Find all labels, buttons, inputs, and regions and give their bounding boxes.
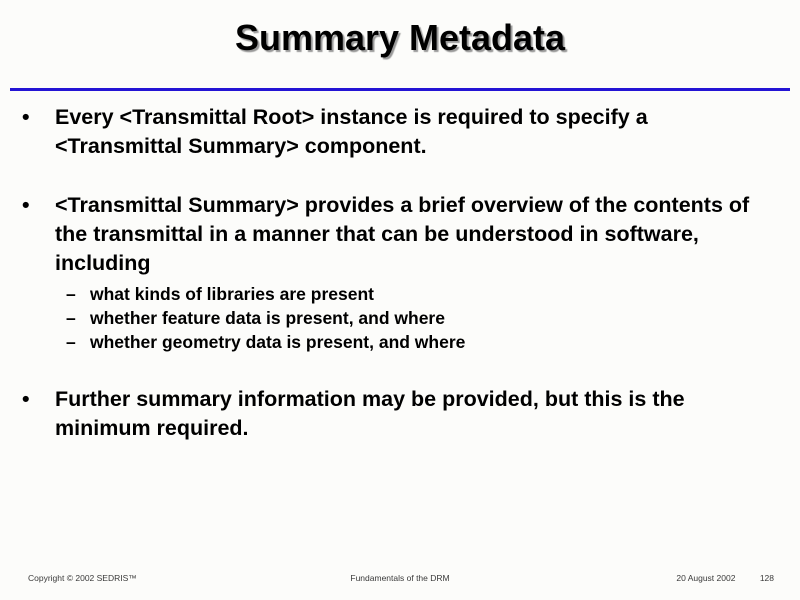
- footer-right-group: 20 August 2002 128: [676, 573, 774, 583]
- bullet-text: Every <Transmittal Root> instance is req…: [55, 105, 648, 158]
- footer-date: 20 August 2002: [676, 573, 735, 583]
- sub-bullet-text: whether geometry data is present, and wh…: [90, 332, 465, 352]
- footer-page-number: 128: [760, 573, 774, 583]
- bullet-item: • Further summary information may be pro…: [0, 385, 800, 443]
- slide-title-block: Summary Metadata: [0, 18, 800, 58]
- sub-bullet-marker-icon: –: [66, 306, 76, 330]
- sub-bullet-item: – whether geometry data is present, and …: [0, 330, 800, 354]
- sub-bullet-item: – whether feature data is present, and w…: [0, 306, 800, 330]
- bullet-item: • Every <Transmittal Root> instance is r…: [0, 103, 800, 161]
- spacer: [0, 355, 800, 385]
- bullet-marker-icon: •: [22, 103, 30, 132]
- bullet-marker-icon: •: [22, 191, 30, 220]
- bullet-text: <Transmittal Summary> provides a brief o…: [55, 193, 749, 275]
- title-divider-rule: [10, 88, 790, 91]
- bullet-item: • <Transmittal Summary> provides a brief…: [0, 191, 800, 278]
- sub-bullet-item: – what kinds of libraries are present: [0, 282, 800, 306]
- slide-body: • Every <Transmittal Root> instance is r…: [0, 103, 800, 443]
- sub-bullet-text: what kinds of libraries are present: [90, 284, 374, 304]
- sub-bullet-text: whether feature data is present, and whe…: [90, 308, 445, 328]
- page-title: Summary Metadata: [235, 18, 565, 58]
- spacer: [0, 161, 800, 191]
- sub-bullet-marker-icon: –: [66, 330, 76, 354]
- slide: Summary Metadata • Every <Transmittal Ro…: [0, 0, 800, 600]
- bullet-text: Further summary information may be provi…: [55, 387, 685, 440]
- sub-bullet-marker-icon: –: [66, 282, 76, 306]
- slide-footer: Copyright © 2002 SEDRIS™ Fundamentals of…: [0, 573, 800, 593]
- bullet-marker-icon: •: [22, 385, 30, 414]
